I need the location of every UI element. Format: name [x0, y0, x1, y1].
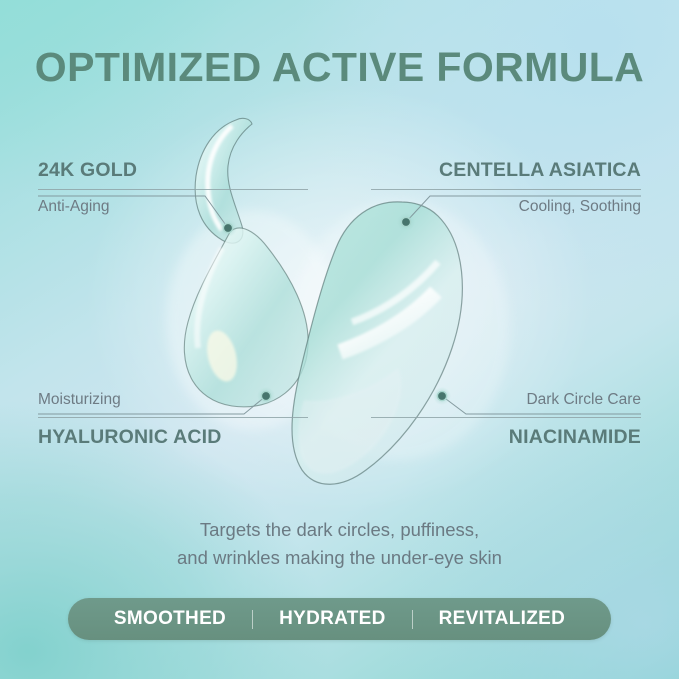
benefits-bar: SMOOTHED HYDRATED REVITALIZED	[68, 598, 611, 640]
callout-24k-gold: 24K GOLD Anti-Aging	[38, 158, 308, 218]
callout-rule-niacinamide	[371, 417, 641, 418]
callout-heading-24k-gold: 24K GOLD	[38, 158, 308, 182]
benefit-revitalized: REVITALIZED	[413, 608, 591, 630]
product-infographic: OPTIMIZED ACTIVE FORMULA	[0, 0, 679, 679]
benefit-hydrated: HYDRATED	[253, 608, 412, 630]
callout-rule-hyaluronic-acid	[38, 417, 308, 418]
description-line-2: and wrinkles making the under-eye skin	[0, 544, 679, 572]
product-image-eye-patches	[0, 0, 679, 679]
benefit-smoothed: SMOOTHED	[88, 608, 252, 630]
callout-heading-hyaluronic-acid: HYALURONIC ACID	[38, 425, 308, 449]
marker-dot-centella	[401, 217, 410, 226]
description-line-1: Targets the dark circles, puffiness,	[0, 516, 679, 544]
callout-heading-centella-asiatica: CENTELLA ASIATICA	[371, 158, 641, 182]
callout-niacinamide: Dark Circle Care NIACINAMIDE	[371, 390, 641, 450]
callout-rule-centella-asiatica	[371, 189, 641, 190]
marker-dot-gold	[223, 223, 232, 232]
callout-centella-asiatica: CENTELLA ASIATICA Cooling, Soothing	[371, 158, 641, 218]
callout-rule-24k-gold	[38, 189, 308, 190]
callout-sub-centella-asiatica: Cooling, Soothing	[371, 197, 641, 217]
callout-sub-niacinamide: Dark Circle Care	[371, 390, 641, 410]
callout-sub-hyaluronic-acid: Moisturizing	[38, 390, 308, 410]
callout-sub-24k-gold: Anti-Aging	[38, 197, 308, 217]
callout-heading-niacinamide: NIACINAMIDE	[371, 425, 641, 449]
product-description: Targets the dark circles, puffiness, and…	[0, 516, 679, 572]
callout-hyaluronic-acid: Moisturizing HYALURONIC ACID	[38, 390, 308, 450]
